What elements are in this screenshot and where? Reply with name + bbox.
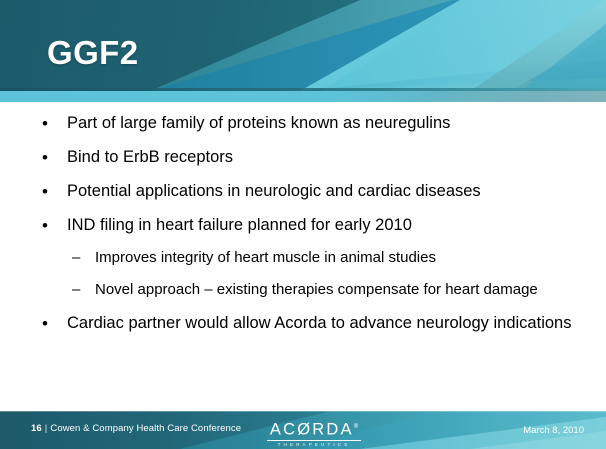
list-item: • Bind to ErbB receptors <box>0 147 606 168</box>
logo-name-after: RDA <box>312 421 353 439</box>
bullet-text: Bind to ErbB receptors <box>67 147 577 168</box>
list-item: • IND filing in heart failure planned fo… <box>0 215 606 236</box>
slide-number: 16 <box>31 423 42 434</box>
bullet-marker-icon: • <box>42 181 67 202</box>
bullet-list: • Part of large family of proteins known… <box>0 113 606 334</box>
conference-name: Cowen & Company Health Care Conference <box>50 423 241 434</box>
bullet-marker-icon: • <box>42 147 67 168</box>
slide-footer: 16|Cowen & Company Health Care Conferenc… <box>0 411 606 449</box>
bullet-marker-icon: • <box>42 215 67 236</box>
bullet-text: Part of large family of proteins known a… <box>67 113 577 134</box>
footer-left-text: 16|Cowen & Company Health Care Conferenc… <box>31 423 241 434</box>
dash-marker-icon: – <box>72 280 95 300</box>
logo-tagline: THERAPEUTICS <box>266 442 362 448</box>
logo-wordmark: ACØRDA® <box>266 419 362 439</box>
bullet-text: Cardiac partner would allow Acorda to ad… <box>67 313 577 334</box>
bullet-marker-icon: • <box>42 313 67 334</box>
acorda-logo: ACØRDA® THERAPEUTICS <box>266 419 362 448</box>
list-item: • Part of large family of proteins known… <box>0 113 606 134</box>
logo-slashed-o-icon: Ø <box>297 421 312 439</box>
header-accent-band <box>0 91 606 102</box>
dash-marker-icon: – <box>72 248 95 268</box>
logo-name-before: AC <box>270 421 297 439</box>
sub-bullet-text: Improves integrity of heart muscle in an… <box>95 248 580 268</box>
bullet-text: Potential applications in neurologic and… <box>67 181 577 202</box>
sub-bullet-text: Novel approach – existing therapies comp… <box>95 280 580 300</box>
sub-list-item: – Improves integrity of heart muscle in … <box>0 248 606 268</box>
footer-separator: | <box>45 423 48 434</box>
presentation-slide: GGF2 • Part of large family of proteins … <box>0 0 606 449</box>
slide-title: GGF2 <box>47 36 138 69</box>
slide-header: GGF2 <box>0 0 606 91</box>
sub-list-item: – Novel approach – existing therapies co… <box>0 280 606 300</box>
logo-divider-rule <box>267 440 361 441</box>
bullet-marker-icon: • <box>42 113 67 134</box>
presentation-date: March 8, 2010 <box>523 425 584 436</box>
slide-content: • Part of large family of proteins known… <box>0 102 606 409</box>
list-item: • Cardiac partner would allow Acorda to … <box>0 313 606 334</box>
list-item: • Potential applications in neurologic a… <box>0 181 606 202</box>
registered-trademark-icon: ® <box>354 424 358 430</box>
bullet-text: IND filing in heart failure planned for … <box>67 215 577 236</box>
footer-top-divider <box>0 411 606 412</box>
